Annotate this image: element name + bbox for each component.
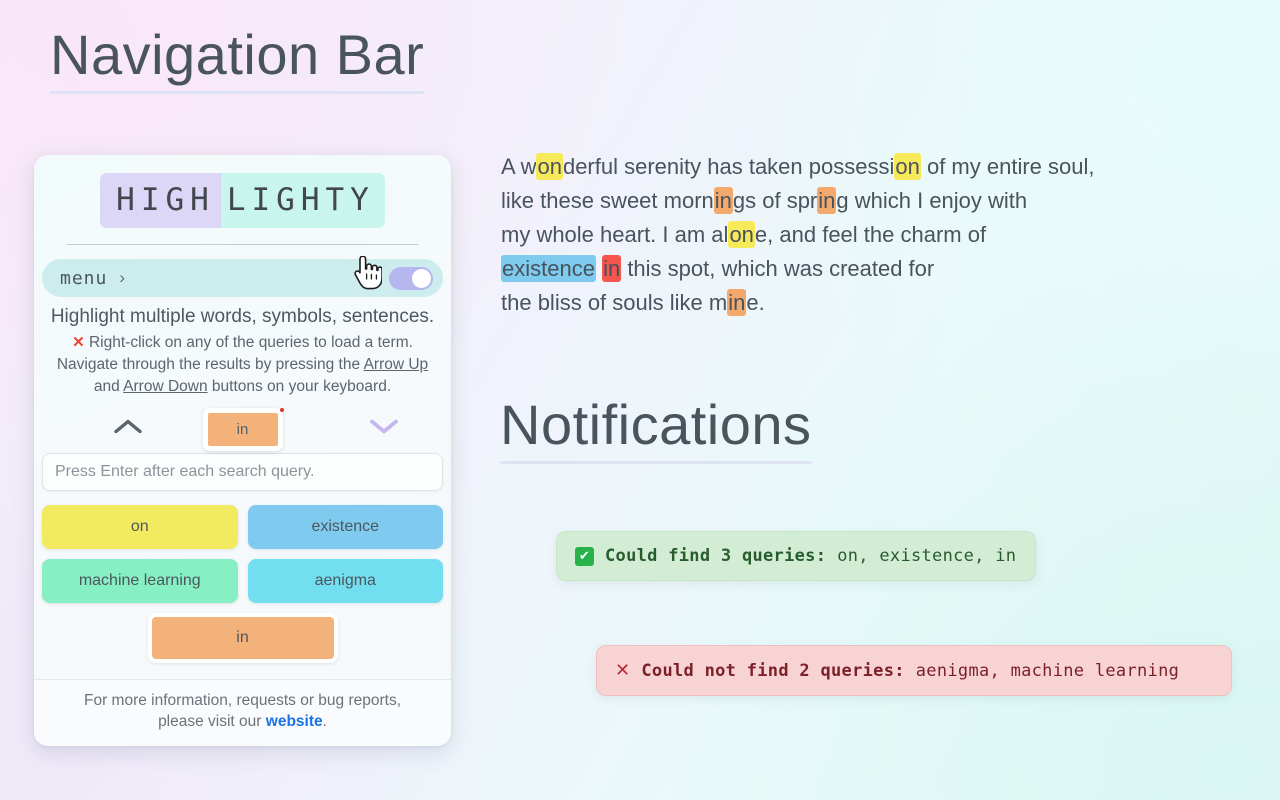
page-title-notifications: Notifications bbox=[500, 392, 812, 464]
active-query-row: in bbox=[34, 609, 451, 679]
arrow-up-keyword: Arrow Up bbox=[364, 356, 429, 373]
active-query-chip[interactable]: in bbox=[148, 613, 338, 663]
instructions-block: Highlight multiple words, symbols, sente… bbox=[34, 297, 451, 397]
text-run: gs of spr bbox=[733, 188, 817, 213]
query-chip[interactable]: aenigma bbox=[248, 559, 444, 603]
highlight-yellow: on bbox=[536, 153, 562, 180]
logo: HIGH LIGHTY bbox=[34, 155, 451, 228]
instructions-headline: Highlight multiple words, symbols, sente… bbox=[40, 303, 445, 331]
current-term-chip[interactable]: in bbox=[203, 408, 283, 451]
highlighty-logo: HIGH LIGHTY bbox=[100, 173, 385, 228]
menu-bar[interactable]: menu › bbox=[42, 259, 443, 297]
notification-title: Could find 3 queries: bbox=[605, 546, 826, 566]
text-run: g which I enjoy with bbox=[836, 188, 1027, 213]
notification-error: ✕ Could not find 2 queries: aenigma, mac… bbox=[596, 645, 1232, 696]
query-chip[interactable]: on bbox=[42, 505, 238, 549]
text-run: e, and feel the charm of bbox=[755, 222, 986, 247]
notification-query-list: aenigma, machine learning bbox=[916, 661, 1179, 681]
instructions-line-1: ✕ Right-click on any of the queries to l… bbox=[40, 331, 445, 353]
text-run: derful serenity has taken possessi bbox=[563, 154, 894, 179]
text-run: like these sweet morn bbox=[501, 188, 714, 213]
heading-underline bbox=[500, 461, 812, 464]
navigation-controls: in bbox=[34, 405, 451, 453]
logo-part-lighty: LIGHTY bbox=[221, 173, 385, 228]
footer-line-2-text: please visit our bbox=[158, 713, 261, 730]
highlight-orange: in bbox=[727, 289, 746, 316]
footer-line-2: please visit our website. bbox=[44, 711, 441, 732]
sample-line-3: my whole heart. I am alone, and feel the… bbox=[501, 218, 1221, 252]
logo-part-high: HIGH bbox=[100, 173, 221, 228]
sample-line-1: A wonderful serenity has taken possessio… bbox=[501, 150, 1221, 184]
instructions-and-text: and bbox=[94, 378, 120, 395]
footer-line-1: For more information, requests or bug re… bbox=[44, 690, 441, 711]
instructions-line-1-text: Right-click on any of the queries to loa… bbox=[89, 334, 413, 351]
sample-line-2: like these sweet mornings of spring whic… bbox=[501, 184, 1221, 218]
text-run: this spot, which was created for bbox=[621, 256, 934, 281]
text-run: e. bbox=[746, 290, 764, 315]
x-icon: ✕ bbox=[615, 660, 630, 681]
instructions-line-2-text: Navigate through the results by pressing… bbox=[57, 356, 360, 373]
sample-line-5: the bliss of souls like mine. bbox=[501, 286, 1221, 320]
instructions-line-3: and Arrow Down buttons on your keyboard. bbox=[40, 375, 445, 397]
footer-period: . bbox=[323, 713, 327, 730]
chevron-up-icon[interactable] bbox=[113, 418, 143, 441]
notification-query-list: on, existence, in bbox=[837, 546, 1016, 566]
page-title-navigation-bar: Navigation Bar bbox=[50, 22, 424, 94]
instructions-line-2: Navigate through the results by pressing… bbox=[40, 353, 445, 375]
query-chip[interactable]: machine learning bbox=[42, 559, 238, 603]
search-input[interactable] bbox=[42, 453, 443, 491]
query-chip[interactable]: existence bbox=[248, 505, 444, 549]
notification-success: ✔ Could find 3 queries: on, existence, i… bbox=[556, 531, 1036, 581]
arrow-down-keyword: Arrow Down bbox=[123, 378, 207, 395]
text-run: A bbox=[501, 154, 521, 179]
logo-divider bbox=[67, 244, 418, 245]
highlight-orange: in bbox=[817, 187, 836, 214]
instructions-line-3-text: buttons on your keyboard. bbox=[212, 378, 391, 395]
chevron-down-icon[interactable] bbox=[369, 418, 399, 441]
highlight-yellow: on bbox=[894, 153, 920, 180]
navigation-bar-title-text: Navigation Bar bbox=[50, 23, 424, 86]
menu-label: menu bbox=[60, 268, 107, 289]
current-term-label: in bbox=[237, 421, 249, 438]
close-icon[interactable]: ✕ bbox=[72, 334, 85, 351]
chevron-right-icon[interactable]: › bbox=[119, 268, 125, 288]
sample-paragraph: A wonderful serenity has taken possessio… bbox=[501, 150, 1221, 320]
notification-title: Could not find 2 queries: bbox=[641, 661, 904, 681]
enable-toggle[interactable] bbox=[389, 267, 433, 290]
saved-queries-grid: on existence machine learning aenigma bbox=[34, 491, 451, 609]
sample-line-4: existence in this spot, which was create… bbox=[501, 252, 1221, 286]
text-run: the bliss of souls like m bbox=[501, 290, 727, 315]
unread-dot-icon bbox=[280, 408, 284, 412]
panel-footer: For more information, requests or bug re… bbox=[34, 679, 451, 746]
notifications-title-text: Notifications bbox=[500, 393, 812, 456]
heading-underline bbox=[50, 91, 424, 94]
text-run: w bbox=[521, 154, 537, 179]
highlight-red: in bbox=[602, 255, 621, 282]
search-area bbox=[34, 453, 451, 491]
highlight-orange: in bbox=[714, 187, 733, 214]
website-link[interactable]: website bbox=[266, 713, 323, 730]
text-run: of my entire soul, bbox=[921, 154, 1095, 179]
highlight-yellow: on bbox=[728, 221, 754, 248]
extension-popup-panel: HIGH LIGHTY menu › Highlight multiple wo… bbox=[34, 155, 451, 746]
check-box-icon: ✔ bbox=[575, 547, 594, 566]
highlight-blue: existence bbox=[501, 255, 596, 282]
text-run: my whole heart. I am al bbox=[501, 222, 728, 247]
